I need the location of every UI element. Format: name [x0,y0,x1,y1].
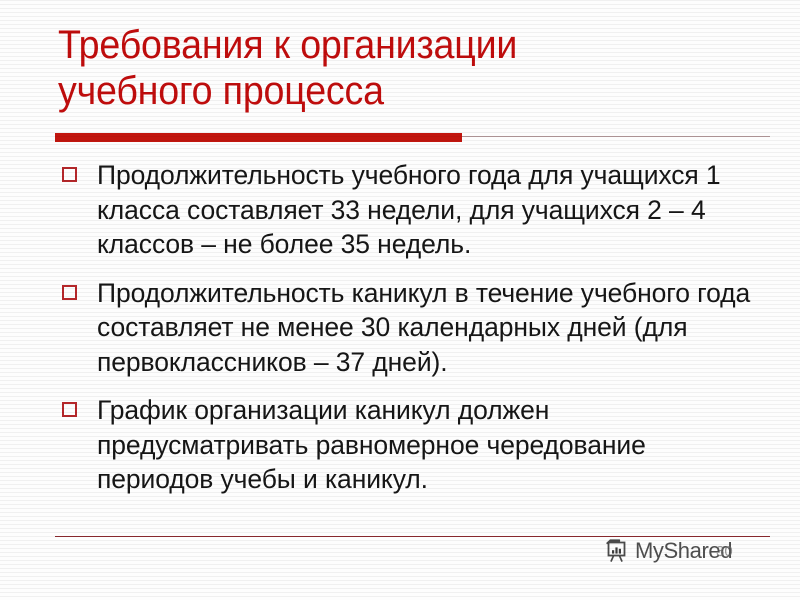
list-item-text: Продолжительность каникул в течение учеб… [97,278,750,377]
footer-divider [55,536,770,537]
presentation-chart-icon [604,538,630,564]
title-accent-rule-thick [55,133,462,142]
title-line-2: учебного процесса [58,68,735,114]
list-item-text: График организации каникул должен предус… [97,395,646,494]
slide-title: Требования к организации учебного процес… [58,22,778,114]
title-accent-rule-thin [462,136,770,137]
square-outline-bullet-icon [62,402,77,417]
list-item-text: Продолжительность учебного года для учащ… [97,160,721,259]
list-item: График организации каникул должен предус… [55,393,760,497]
page-number: 30 [716,543,733,560]
presentation-slide: Требования к организации учебного процес… [0,0,800,600]
myshared-watermark: MyShared [604,538,732,564]
list-item: Продолжительность учебного года для учащ… [55,158,760,262]
square-outline-bullet-icon [62,285,77,300]
square-outline-bullet-icon [62,167,77,182]
list-item: Продолжительность каникул в течение учеб… [55,276,760,380]
title-line-1: Требования к организации [58,22,735,68]
bullet-list: Продолжительность учебного года для учащ… [55,158,760,511]
title-accent-rule [55,133,770,142]
